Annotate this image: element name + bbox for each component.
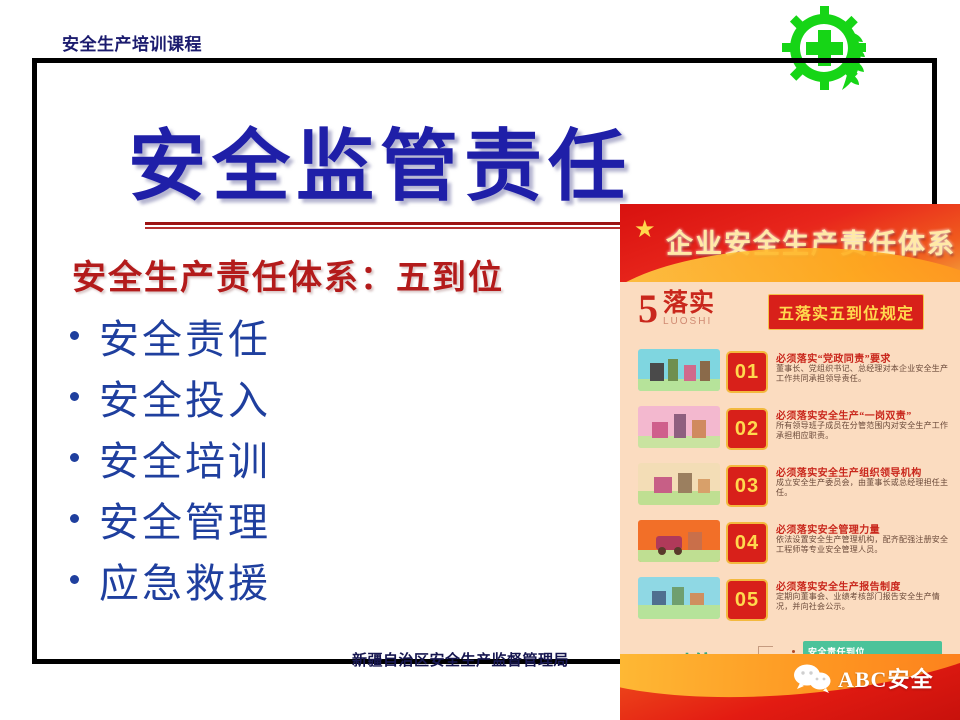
poster-title: 企业安全生产责任体系 (666, 222, 956, 261)
item-thumbnail-icon (638, 577, 720, 619)
list-item: 安全责任 (70, 305, 500, 366)
wechat-icon (792, 663, 832, 693)
bullet-dot-icon (70, 575, 79, 584)
item-thumbnail-icon (638, 520, 720, 562)
list-item: 02 必须落实安全生产“一岗双责” 所有领导班子成员在分管范围内对安全生产工作承… (620, 401, 960, 458)
footer-organization-label: 新疆自治区安全生产监督管理局 (352, 649, 569, 670)
item-number-badge: 05 (726, 579, 768, 621)
list-item-label: 安全培训 (99, 429, 271, 487)
list-item: 应急救援 (70, 549, 500, 610)
item-heading: 必须落实安全生产报告制度 (776, 578, 901, 593)
watermark-label: ABC安全 (838, 662, 933, 694)
list-item: 安全管理 (70, 488, 500, 549)
item-number-badge: 03 (726, 465, 768, 507)
course-header-label: 安全生产培训课程 (62, 30, 202, 55)
list-item: 03 必须落实安全生产组织领导机构 成立安全生产委员会，由董事长或总经理担任主任… (620, 458, 960, 515)
slide-canvas: 安全生产培训课程 (0, 0, 960, 720)
item-number: 03 (735, 475, 759, 498)
luoshi-number: 5 (638, 290, 658, 328)
poster-body: 5 落实 LUOSHI 五落实五到位规定 (620, 282, 960, 642)
list-item-label: 应急救援 (99, 551, 271, 609)
item-number: 02 (735, 418, 759, 441)
item-description: 依法设置安全生产管理机构，配齐配强注册安全工程师等专业安全管理人员。 (776, 535, 952, 555)
list-item: 安全培训 (70, 427, 500, 488)
bullet-list: 安全责任 安全投入 安全培训 安全管理 应急救援 (70, 305, 500, 610)
item-heading: 必须落实安全生产组织领导机构 (776, 464, 922, 479)
item-heading: 必须落实安全生产“一岗双责” (776, 407, 912, 422)
item-number: 01 (735, 361, 759, 384)
luoshi-label-cn: 落实 (663, 291, 715, 316)
page-title: 安全监管责任 (0, 104, 760, 216)
list-item: 01 必须落实“党政同责”要求 董事长、党组织书记、总经理对本企业安全生产工作共… (620, 344, 960, 401)
bullet-dot-icon (70, 453, 79, 462)
rule-banner-label: 五落实五到位规定 (778, 306, 914, 323)
item-number: 04 (735, 532, 759, 555)
section-subtitle: 安全生产责任体系：五到位 (72, 250, 504, 299)
list-item: 05 必须落实安全生产报告制度 定期向董事会、业绩考核部门报告安全生产情况，并向… (620, 572, 960, 629)
bullet-dot-icon (70, 392, 79, 401)
list-item-label: 安全管理 (99, 490, 271, 548)
list-item: 安全投入 (70, 366, 500, 427)
item-thumbnail-icon (638, 463, 720, 505)
list-item-label: 安全投入 (99, 368, 271, 426)
item-description: 所有领导班子成员在分管范围内对安全生产工作承担相应职责。 (776, 421, 952, 441)
bullet-dot-icon (70, 514, 79, 523)
item-thumbnail-icon (638, 406, 720, 448)
title-divider (145, 222, 640, 229)
item-number-badge: 02 (726, 408, 768, 450)
luoshi-label-en: LUOSHI (663, 316, 715, 327)
watermark: ABC安全 (792, 662, 933, 694)
item-description: 成立安全生产委员会，由董事长或总经理担任主任。 (776, 478, 952, 498)
list-item-label: 安全责任 (99, 307, 271, 365)
item-number-badge: 04 (726, 522, 768, 564)
item-heading: 必须落实安全管理力量 (776, 521, 880, 536)
rule-banner: 五落实五到位规定 (768, 294, 924, 330)
bullet-dot-icon (70, 331, 79, 340)
item-description: 定期向董事会、业绩考核部门报告安全生产情况，并向社会公示。 (776, 592, 952, 612)
item-number-badge: 01 (726, 351, 768, 393)
luoshi-heading: 5 落实 LUOSHI (638, 290, 715, 328)
list-item: 04 必须落实安全管理力量 依法设置安全生产管理机构，配齐配强注册安全工程师等专… (620, 515, 960, 572)
item-description: 董事长、党组织书记、总经理对本企业安全生产工作共同承担领导责任。 (776, 364, 952, 384)
star-icon: ★ (634, 218, 660, 244)
poster-image: ★ 企业安全生产责任体系 5 落实 LUOSHI 五落实五到位规定 (620, 204, 960, 720)
poster-header-band: ★ 企业安全生产责任体系 (620, 204, 960, 282)
item-heading: 必须落实“党政同责”要求 (776, 350, 891, 365)
bullet-dot-icon (792, 650, 795, 653)
numbered-item-list: 01 必须落实“党政同责”要求 董事长、党组织书记、总经理对本企业安全生产工作共… (620, 344, 960, 629)
item-number: 05 (735, 589, 759, 612)
item-thumbnail-icon (638, 349, 720, 391)
